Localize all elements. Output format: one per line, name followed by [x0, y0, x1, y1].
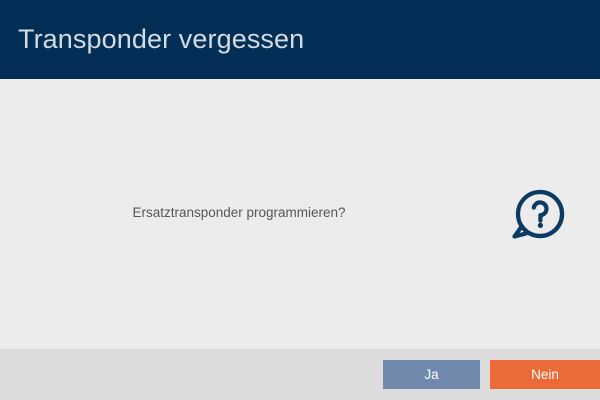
no-button[interactable]: Nein — [490, 360, 600, 389]
question-speech-bubble-icon — [508, 184, 568, 244]
dialog-button-bar: Ja Nein — [0, 349, 600, 400]
yes-button[interactable]: Ja — [383, 360, 480, 389]
dialog-title: Transponder vergessen — [18, 26, 304, 53]
dialog-content: Ersatztransponder programmieren? — [0, 79, 600, 349]
dialog-window: Transponder vergessen Ersatztransponder … — [0, 0, 600, 400]
dialog-titlebar: Transponder vergessen — [0, 0, 600, 79]
